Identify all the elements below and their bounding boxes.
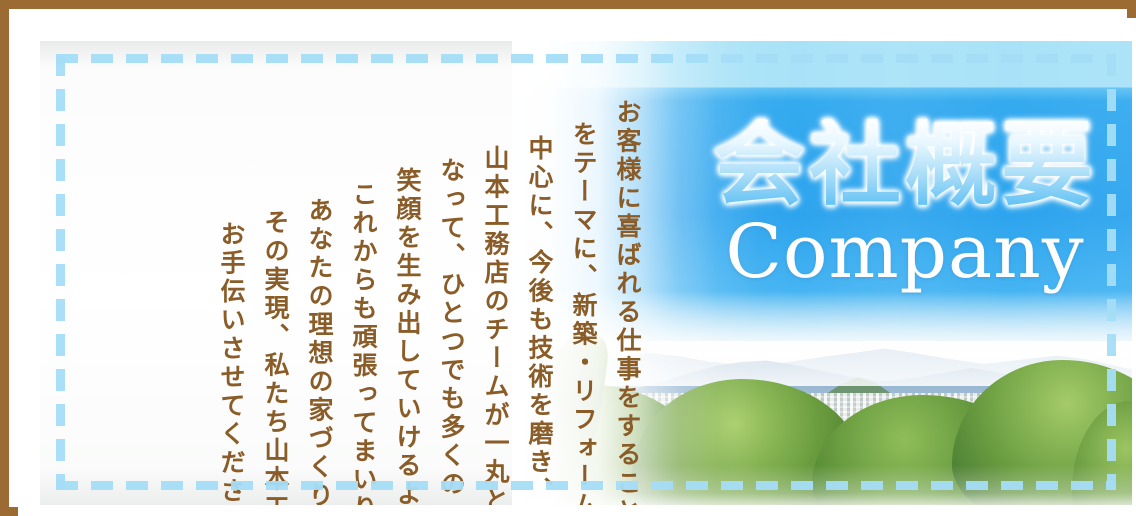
message-column-7: これからも頑張ってまいります。 [332, 181, 376, 505]
message-column-6: 笑顔を生み出していけるように [376, 167, 420, 505]
white-mat: 会社概要 会社概要 Company お客様に喜ばれる仕事をすること をテーマに、… [18, 18, 1136, 516]
message-column-4: 山本工務店のチームが一丸と [464, 145, 508, 505]
company-banner-card: 会社概要 会社概要 Company お客様に喜ばれる仕事をすること をテーマに、… [40, 41, 1132, 505]
message-column-8: あなたの理想の家づくり。 [288, 197, 332, 505]
message-column-9: その実現、私たち山本工務店に [244, 209, 288, 505]
message-column-1: お客様に喜ばれる仕事をすること [596, 99, 640, 505]
vertical-message-block: お客様に喜ばれる仕事をすること をテーマに、新築・リフォームを 中心に、今後も技… [200, 85, 640, 477]
outer-brown-frame: 会社概要 会社概要 Company お客様に喜ばれる仕事をすること をテーマに、… [0, 0, 1136, 516]
message-column-2: をテーマに、新築・リフォームを [552, 121, 596, 505]
message-column-5: なって、ひとつでも多くの [420, 157, 464, 499]
message-column-3: 中心に、今後も技術を磨き、 [508, 135, 552, 505]
message-column-10: お手伝いさせてください。 [200, 221, 244, 505]
